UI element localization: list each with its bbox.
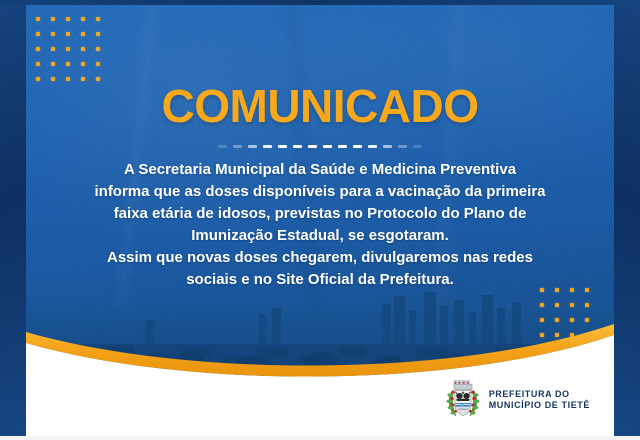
dot-grid-icon (36, 17, 111, 92)
prefeitura-logo: PREFEITURA DO MUNICÍPIO DE TIETÊ (445, 377, 590, 422)
body-line: A Secretaria Municipal da Saúde e Medici… (66, 159, 574, 181)
dashed-divider (26, 143, 614, 149)
body-line: Imunização Estadual, se esgotaram. (66, 225, 574, 247)
body-line: Assim que novas doses chegarem, divulgar… (66, 247, 574, 269)
frame-border-right (614, 0, 640, 440)
frame-border-left (0, 0, 26, 440)
announcement-poster: COMUNICADO A Secretaria Municipal da Saú… (0, 0, 640, 440)
announcement-body: A Secretaria Municipal da Saúde e Medici… (66, 159, 574, 291)
frame-border-bottom (0, 436, 640, 440)
body-line: sociais e no Site Oficial da Prefeitura. (66, 269, 574, 291)
coat-of-arms-icon (445, 377, 481, 422)
poster-canvas: COMUNICADO A Secretaria Municipal da Saú… (26, 5, 614, 436)
logo-line-1: PREFEITURA DO (489, 389, 590, 400)
body-line: informa que as doses disponíveis para a … (66, 181, 574, 203)
logo-line-2: MUNICÍPIO DE TIETÊ (489, 400, 590, 411)
logo-wordmark: PREFEITURA DO MUNICÍPIO DE TIETÊ (489, 389, 590, 411)
page-title: COMUNICADO (26, 83, 614, 129)
body-line: faixa etária de idosos, previstas no Pro… (66, 203, 574, 225)
